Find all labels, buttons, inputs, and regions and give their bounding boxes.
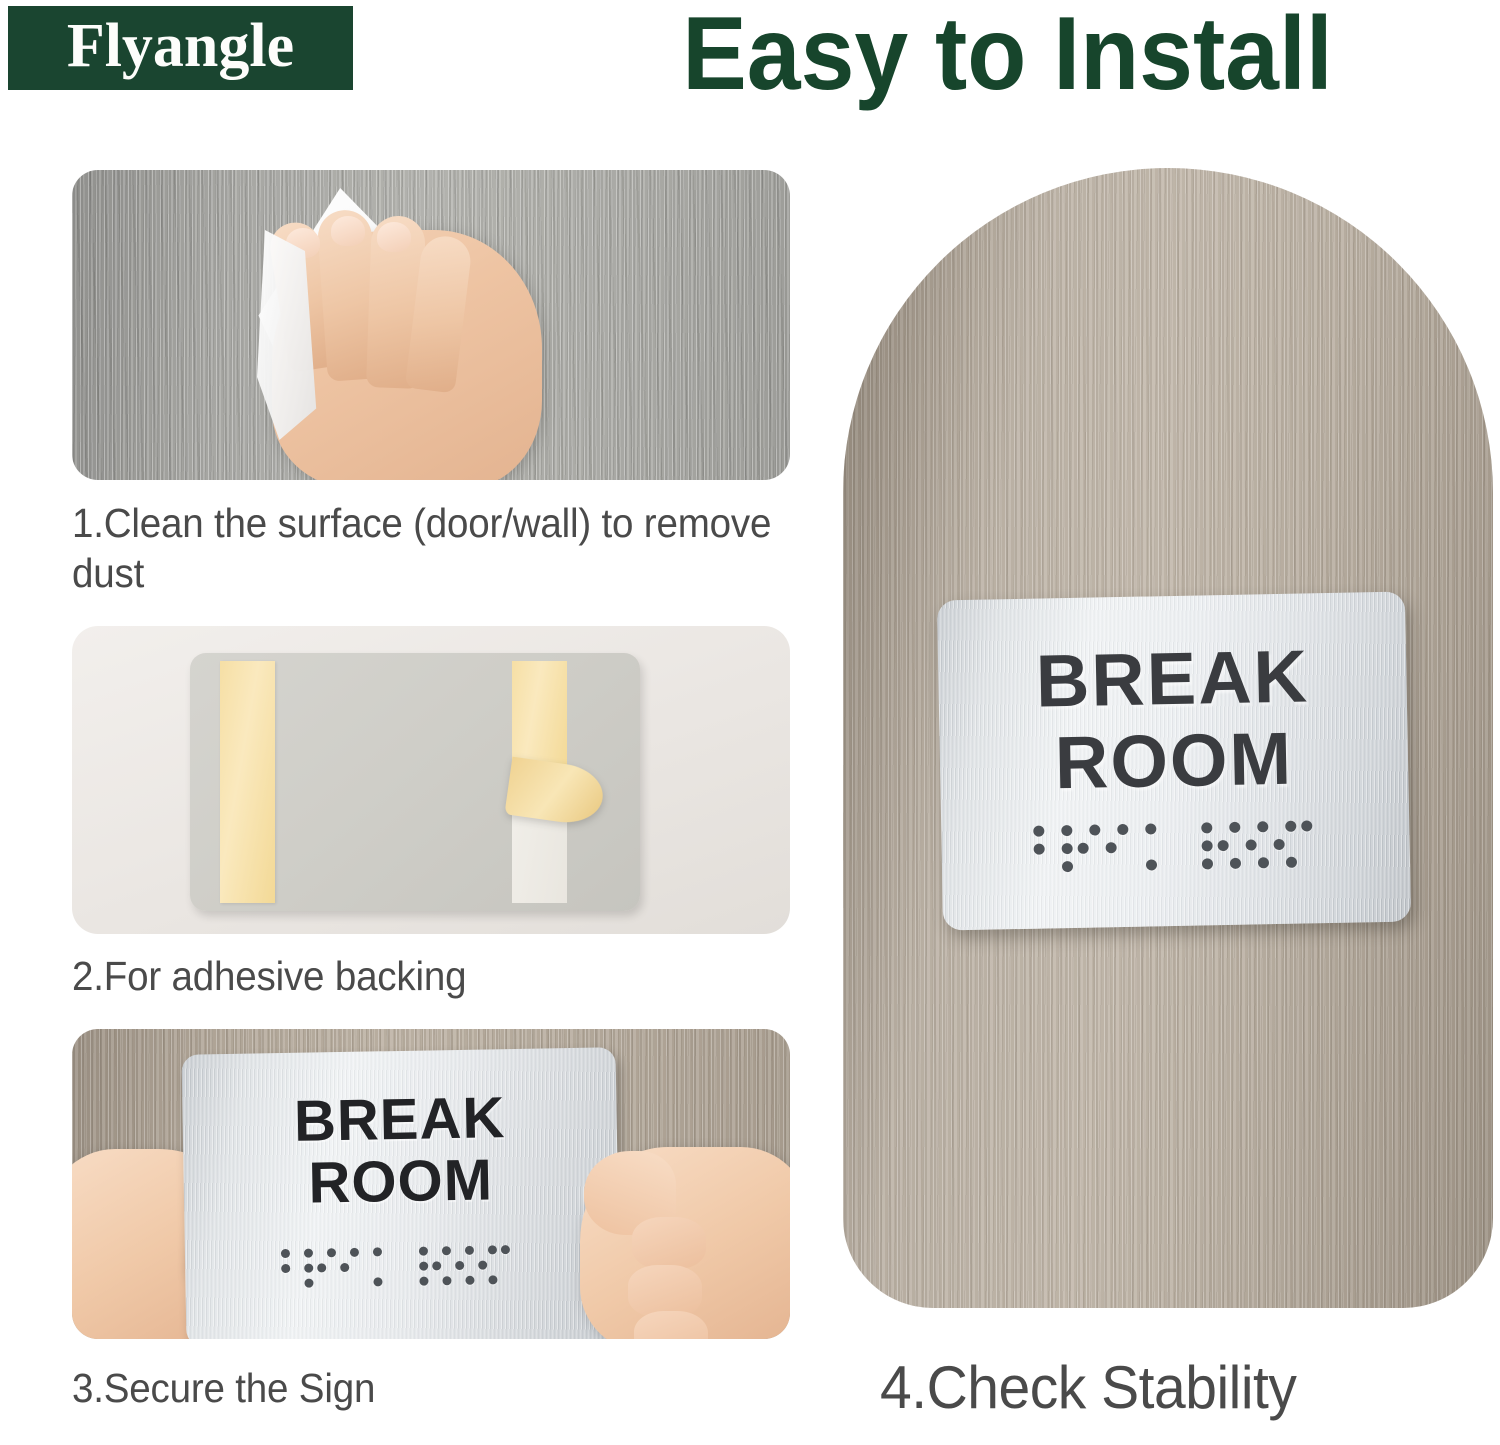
braille-dot (465, 1276, 474, 1285)
step-1: 1.Clean the surface (door/wall) to remov… (72, 170, 790, 598)
step-1-photo (72, 170, 790, 480)
step-2-caption: 2.For adhesive backing (72, 951, 747, 1001)
braille-dot (1230, 858, 1241, 869)
step-2: 2.For adhesive backing (72, 626, 790, 1001)
page-title: Easy to Install (554, 0, 1461, 110)
knuckle (632, 1217, 706, 1269)
sign-text-line2: ROOM (183, 1147, 618, 1217)
sign-text-line1: BREAK (182, 1085, 617, 1155)
braille-dot (1062, 843, 1073, 854)
braille-dot (1062, 861, 1073, 872)
step-4-photo: BREAK ROOM (843, 168, 1493, 1308)
braille-dot (304, 1249, 313, 1258)
sign-text: BREAK ROOM (938, 634, 1409, 807)
sign-text-line2: ROOM (939, 716, 1408, 807)
braille-dot (432, 1261, 441, 1270)
step-1-caption: 1.Clean the surface (door/wall) to remov… (72, 498, 786, 598)
braille-dot (419, 1277, 428, 1286)
step-3-caption: 3.Secure the Sign (72, 1363, 747, 1413)
header: Flyangle Easy to Install (0, 0, 1500, 120)
installed-sign-plate: BREAK ROOM (937, 592, 1411, 931)
braille-dot (1202, 840, 1213, 851)
braille-dot (488, 1245, 497, 1254)
braille-dot (327, 1248, 336, 1257)
adhesive-strip-left (220, 661, 275, 903)
braille-dot (419, 1247, 428, 1256)
braille-dots (1033, 820, 1334, 882)
braille-dot (1257, 821, 1268, 832)
step-4-caption: 4.Check Stability (880, 1355, 1296, 1421)
braille-dot (1105, 842, 1116, 853)
braille-dots (281, 1245, 532, 1295)
braille-dot (1146, 859, 1157, 870)
braille-dot (1201, 822, 1212, 833)
sign-back-plate (190, 653, 640, 911)
braille-dot (1258, 857, 1269, 868)
braille-dot (1033, 826, 1044, 837)
braille-dot (317, 1263, 326, 1272)
braille-dot (1061, 825, 1072, 836)
braille-dot (304, 1279, 313, 1288)
braille-dot (1229, 822, 1240, 833)
fingernail (377, 222, 411, 252)
braille-dot (304, 1264, 313, 1273)
step-3-photo: BREAK ROOM (72, 1029, 790, 1339)
braille-dot (373, 1277, 382, 1286)
braille-dot (1145, 823, 1156, 834)
steps-column: 1.Clean the surface (door/wall) to remov… (72, 170, 790, 1413)
braille-dot (501, 1245, 510, 1254)
braille-dot (1034, 844, 1045, 855)
braille-dot (1301, 820, 1312, 831)
braille-dot (465, 1246, 474, 1255)
knuckle (628, 1265, 702, 1317)
braille-dot (1245, 839, 1256, 850)
braille-dot (1117, 824, 1128, 835)
knuckle (634, 1311, 708, 1339)
sign-text: BREAK ROOM (182, 1085, 618, 1217)
step-2-photo (72, 626, 790, 934)
braille-dot (340, 1263, 349, 1272)
step-3: BREAK ROOM 3.Secure the Sign (72, 1029, 790, 1413)
braille-dot (419, 1262, 428, 1271)
braille-dot (373, 1247, 382, 1256)
braille-dot (1077, 843, 1088, 854)
braille-dot (1286, 857, 1297, 868)
brand-logo: Flyangle (8, 6, 353, 90)
braille-dot (281, 1249, 290, 1258)
brand-logo-text: Flyangle (67, 15, 294, 81)
braille-dot (488, 1275, 497, 1284)
sign-plate-in-hands: BREAK ROOM (181, 1047, 620, 1339)
braille-dot (478, 1261, 487, 1270)
sign-text-line1: BREAK (938, 634, 1407, 725)
braille-dot (1202, 858, 1213, 869)
braille-dot (1089, 824, 1100, 835)
braille-dot (350, 1248, 359, 1257)
fingernail (331, 216, 365, 246)
braille-dot (1217, 840, 1228, 851)
braille-dot (1273, 839, 1284, 850)
braille-dot (455, 1261, 464, 1270)
braille-dot (1285, 821, 1296, 832)
braille-dot (442, 1276, 451, 1285)
braille-dot (442, 1246, 451, 1255)
braille-dot (281, 1264, 290, 1273)
